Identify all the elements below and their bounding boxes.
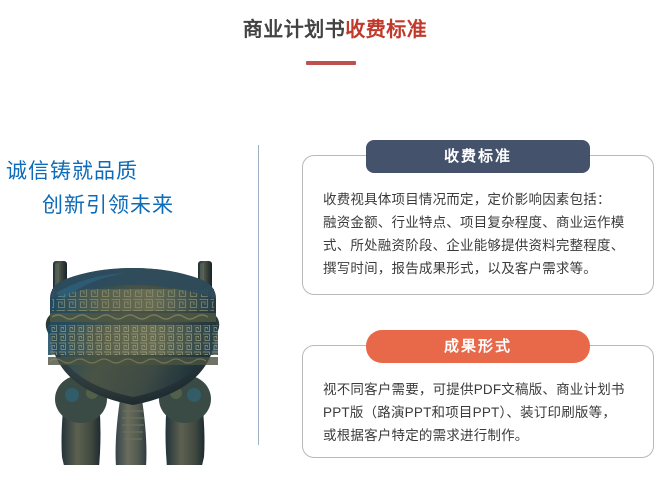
panel-fees-line-3: 式、所处融资阶段、企业能够提供资料完整程度、 [323, 234, 637, 257]
page-title-accent: 收费标准 [345, 19, 427, 41]
slogan-line-1: 诚信铸就品质 [0, 155, 250, 189]
panel-outputs-line-1: 视不同客户需要，可提供PDF文稿版、商业计划书 [323, 378, 637, 401]
panel-outputs-chip: 成果形式 [366, 330, 590, 363]
panel-fees-chip: 收费标准 [366, 140, 590, 173]
column-divider [258, 145, 259, 445]
panel-outputs-body: 视不同客户需要，可提供PDF文稿版、商业计划书 PPT版（路演PPT和项目PPT… [323, 378, 637, 447]
bronze-ding-tripod-icon [22, 243, 244, 465]
slogan-line-2: 创新引领未来 [0, 189, 250, 223]
panel-fees: 收费标准 收费视具体项目情况而定，定价影响因素包括： 融资金额、行业特点、项目复… [302, 155, 654, 295]
panel-fees-line-2: 融资金额、行业特点、项目复杂程度、商业运作模 [323, 211, 637, 234]
panel-fees-line-4: 撰写时间，报告成果形式，以及客户需求等。 [323, 257, 637, 280]
panel-fees-body: 收费视具体项目情况而定，定价影响因素包括： 融资金额、行业特点、项目复杂程度、商… [323, 188, 637, 280]
slide-canvas: 商业计划书收费标准 诚信铸就品质 创新引领未来 [0, 0, 670, 478]
panel-outputs-line-2: PPT版（路演PPT和项目PPT）、装订印刷版等， [323, 401, 637, 424]
panel-fees-line-1: 收费视具体项目情况而定，定价影响因素包括： [323, 188, 637, 211]
panel-outputs-line-3: 或根据客户特定的需求进行制作。 [323, 424, 637, 447]
company-slogan: 诚信铸就品质 创新引领未来 [0, 155, 250, 223]
page-title: 商业计划书收费标准 [0, 16, 670, 44]
title-underline-rule [306, 61, 356, 65]
panel-outputs: 成果形式 视不同客户需要，可提供PDF文稿版、商业计划书 PPT版（路演PPT和… [302, 345, 654, 458]
page-title-prefix: 商业计划书 [243, 19, 346, 41]
